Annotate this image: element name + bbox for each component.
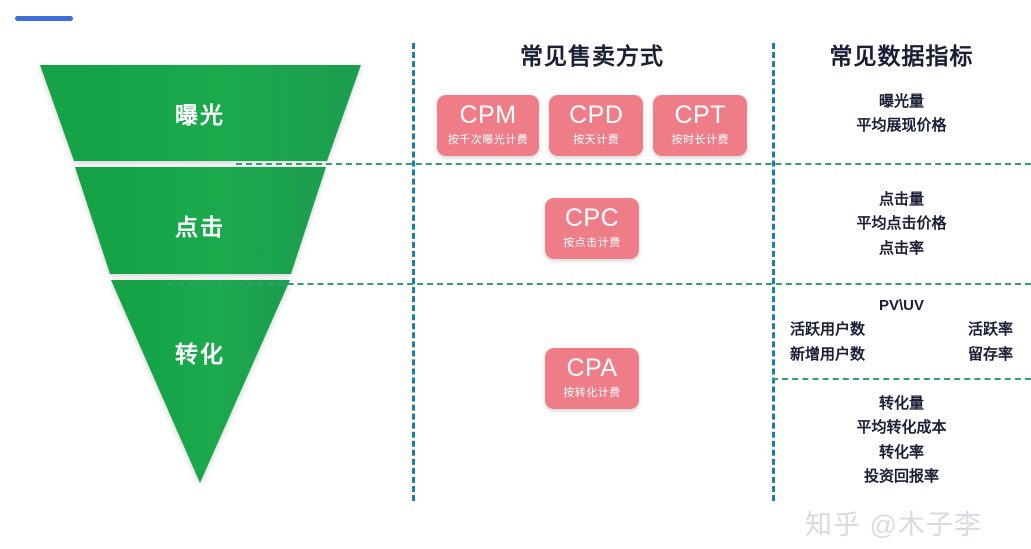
selling-cards-conversion: CPA 按转化计费 — [412, 348, 772, 409]
price-card-desc: 按点击计费 — [556, 234, 628, 250]
metric-item: 曝光量 — [772, 90, 1031, 114]
metric-item: 留存率 — [968, 343, 1013, 367]
metric-item: 平均点击价格 — [772, 212, 1031, 236]
price-card-code: CPM — [448, 102, 529, 129]
selling-cards-click: CPC 按点击计费 — [412, 198, 772, 259]
metric-item: 平均转化成本 — [772, 416, 1031, 440]
metric-row: 活跃用户数 活跃率 — [772, 318, 1031, 342]
price-card-code: CPC — [556, 205, 628, 232]
horizontal-divider-exposure-click — [236, 163, 1031, 165]
metric-item: 活跃用户数 — [790, 318, 865, 342]
metric-item: 点击量 — [772, 188, 1031, 212]
price-card-desc: 按千次曝光计费 — [448, 131, 529, 147]
metric-item: 点击率 — [772, 237, 1031, 261]
price-card-cpt[interactable]: CPT 按时长计费 — [653, 95, 747, 156]
metric-item: 转化量 — [772, 392, 1031, 416]
funnel-diagram: 曝光 点击 转化 — [0, 0, 400, 520]
metric-item: 投资回报率 — [772, 465, 1031, 489]
metric-item: 新增用户数 — [790, 343, 865, 367]
metrics-exposure: 曝光量 平均展现价格 — [772, 90, 1031, 139]
price-card-code: CPD — [560, 102, 632, 129]
price-card-cpa[interactable]: CPA 按转化计费 — [545, 348, 639, 409]
horizontal-divider-click-conversion — [168, 283, 1031, 285]
horizontal-divider-active-conversion — [772, 378, 1031, 380]
price-card-code: CPT — [664, 102, 736, 129]
selling-methods-title: 常见售卖方式 — [412, 37, 772, 71]
selling-cards-exposure: CPM 按千次曝光计费 CPD 按天计费 CPT 按时长计费 — [412, 95, 772, 156]
funnel-stage-conversion — [111, 280, 290, 483]
infographic-canvas: 曝光 点击 转化 常见售卖方式 常见数据指标 CPM 按千次曝光计费 CPD 按… — [0, 0, 1031, 549]
price-card-desc: 按天计费 — [560, 131, 632, 147]
metrics-title: 常见数据指标 — [772, 37, 1031, 71]
price-card-cpd[interactable]: CPD 按天计费 — [549, 95, 643, 156]
metrics-conversion: 转化量 平均转化成本 转化率 投资回报率 — [772, 392, 1031, 489]
metrics-click: 点击量 平均点击价格 点击率 — [772, 188, 1031, 261]
metric-item-pvuv: PV\UV — [772, 294, 1031, 318]
price-card-code: CPA — [556, 355, 628, 382]
metric-item: 转化率 — [772, 441, 1031, 465]
price-card-cpm[interactable]: CPM 按千次曝光计费 — [437, 95, 540, 156]
metrics-active-users: PV\UV 活跃用户数 活跃率 新增用户数 留存率 — [772, 294, 1031, 367]
funnel-label-click: 点击 — [175, 214, 225, 240]
funnel-label-exposure: 曝光 — [175, 102, 225, 128]
price-card-desc: 按时长计费 — [664, 131, 736, 147]
price-card-desc: 按转化计费 — [556, 384, 628, 400]
metric-item: 平均展现价格 — [772, 114, 1031, 138]
metric-item: 活跃率 — [968, 318, 1013, 342]
funnel-label-conversion: 转化 — [175, 341, 225, 367]
watermark: 知乎 @木子李 — [805, 503, 982, 542]
metric-row: 新增用户数 留存率 — [772, 343, 1031, 367]
price-card-cpc[interactable]: CPC 按点击计费 — [545, 198, 639, 259]
